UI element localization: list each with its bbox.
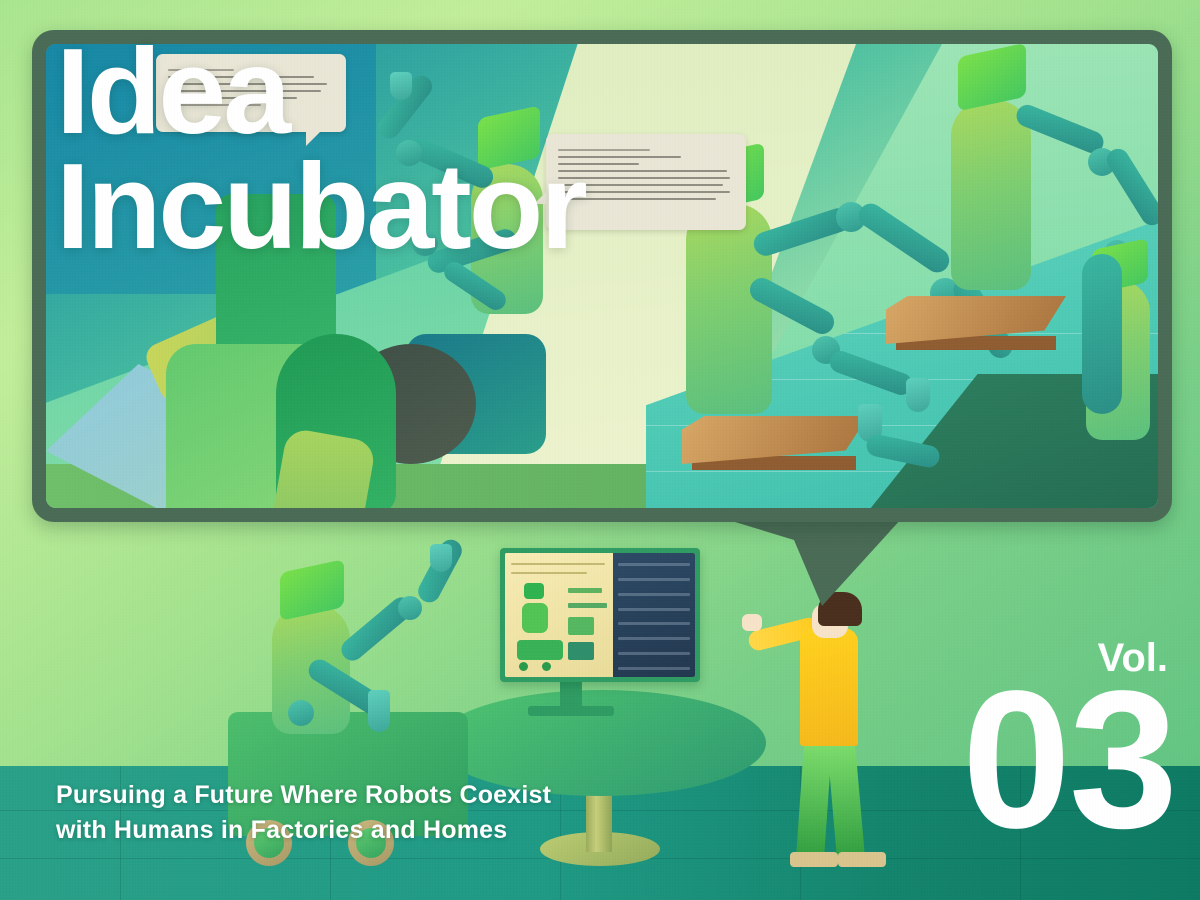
monitor-neck xyxy=(560,682,582,712)
title-line-1: Idea xyxy=(56,34,585,149)
screen-text-list-pane xyxy=(613,553,695,677)
subtitle-line-2: with Humans in Factories and Homes xyxy=(56,813,551,848)
screen-thumbnail-image xyxy=(568,617,594,635)
robot-3-torso xyxy=(951,100,1031,290)
person-left-shoe xyxy=(790,852,838,867)
person-right-shoe xyxy=(838,852,886,867)
cart-robot-second-gripper xyxy=(368,690,390,732)
person-shirt xyxy=(800,628,858,746)
cart-robot-gripper xyxy=(430,544,452,572)
robot-2-gripper-claw xyxy=(906,378,930,412)
screen-robot-body-icon xyxy=(522,603,548,633)
volume-number: 03 xyxy=(962,672,1176,848)
subtitle-line-1: Pursuing a Future Where Robots Coexist xyxy=(56,778,551,813)
screen-thumbnail-image xyxy=(568,642,594,660)
person-hand xyxy=(742,614,762,631)
screen-robot-wheel-icon xyxy=(519,662,528,671)
cart-robot-elbow-joint xyxy=(398,596,422,620)
monitor-screen xyxy=(505,553,695,677)
cart-robot-wrist-joint xyxy=(288,700,314,726)
screen-robot-head-icon xyxy=(524,583,544,599)
page-title: Idea Incubator xyxy=(56,34,585,263)
screen-robot-wheel-icon xyxy=(542,662,551,671)
magazine-cover: Idea Incubator Pursuing a Future Where R… xyxy=(0,0,1200,900)
cover-subtitle: Pursuing a Future Where Robots Coexist w… xyxy=(56,778,551,847)
screen-robot-diagram-pane xyxy=(505,553,613,677)
desktop-monitor[interactable] xyxy=(500,548,700,682)
robot-5-vertical-arm xyxy=(1082,254,1122,414)
title-line-2: Incubator xyxy=(56,149,585,264)
screen-robot-cart-icon xyxy=(517,640,563,660)
